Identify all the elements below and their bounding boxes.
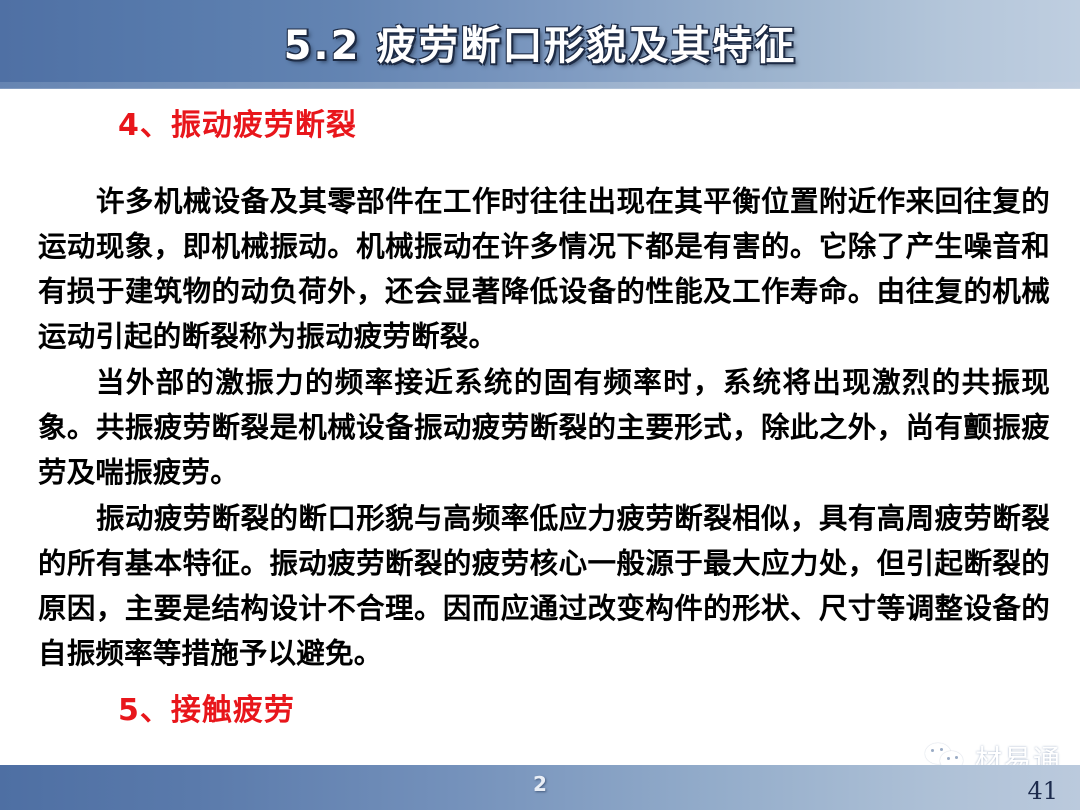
slide-content: 4、振动疲劳断裂 许多机械设备及其零部件在工作时往往出现在其平衡位置附近作来回往… bbox=[0, 88, 1080, 765]
slide-title-bar: 5.2 疲劳断口形貌及其特征 bbox=[0, 0, 1080, 88]
footer-marker: 2 bbox=[0, 772, 1080, 796]
page-number: 41 bbox=[1027, 777, 1058, 805]
paragraph-resonance: 当外部的激振力的频率接近系统的固有频率时，系统将出现激烈的共振现象。共振疲劳断裂… bbox=[38, 360, 1050, 495]
slide-title: 5.2 疲劳断口形貌及其特征 bbox=[0, 0, 1080, 84]
heading-contact-fatigue: 5、接触疲劳 bbox=[118, 685, 295, 729]
slide-canvas: 5.2 疲劳断口形貌及其特征 4、振动疲劳断裂 许多机械设备及其零部件在工作时往… bbox=[0, 0, 1080, 810]
paragraph-fracture-features: 振动疲劳断裂的断口形貌与高频率低应力疲劳断裂相似，具有高周疲劳断裂的所有基本特征… bbox=[38, 496, 1050, 676]
heading-vibration-fatigue: 4、振动疲劳断裂 bbox=[118, 100, 357, 144]
paragraph-vibration-definition: 许多机械设备及其零部件在工作时往往出现在其平衡位置附近作来回往复的运动现象，即机… bbox=[38, 179, 1050, 359]
